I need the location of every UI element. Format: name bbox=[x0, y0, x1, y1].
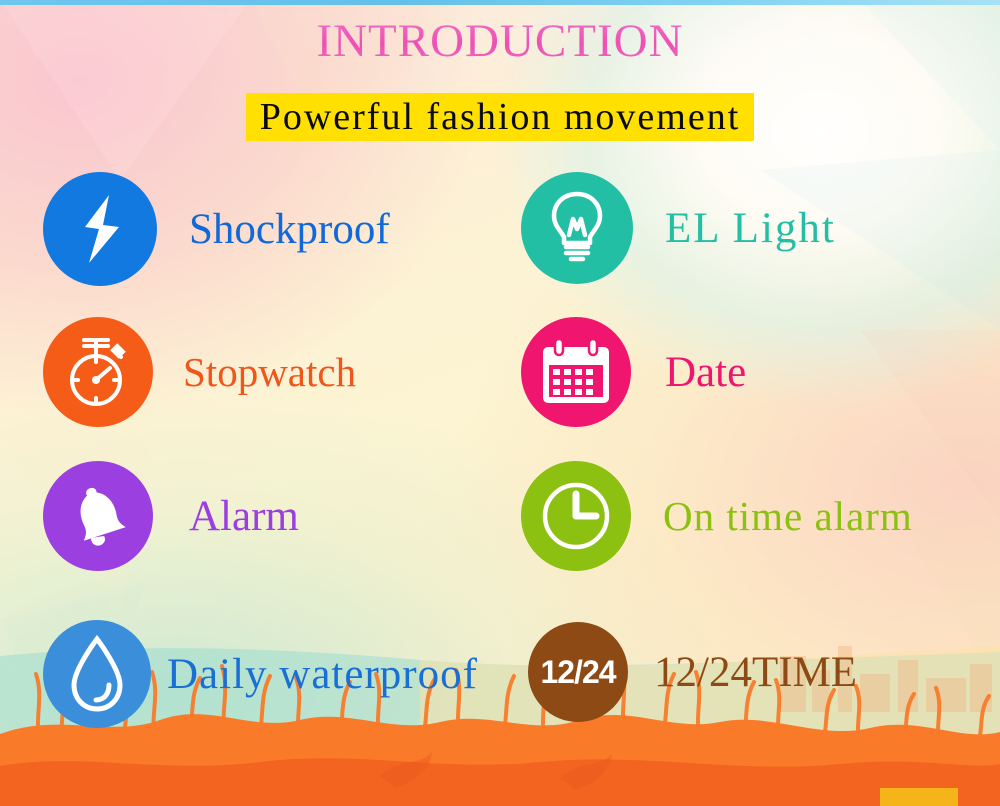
feature-label-stopwatch: Stopwatch bbox=[183, 352, 356, 393]
water-drop-icon-circle bbox=[43, 620, 151, 728]
feature-label-daily-waterproof: Daily waterproof bbox=[167, 653, 478, 696]
light-bulb-icon-circle bbox=[521, 172, 633, 284]
feature-item-stopwatch[interactable]: Stopwatch bbox=[43, 317, 356, 427]
feature-item-el-light[interactable]: EL Light bbox=[521, 172, 836, 284]
stopwatch-icon bbox=[62, 334, 134, 410]
bell-icon-circle bbox=[43, 461, 153, 571]
feature-label-on-time-alarm: On time alarm bbox=[663, 496, 913, 537]
feature-label-12-24-time: 12/24TIME bbox=[654, 651, 857, 694]
feature-label-shockproof: Shockproof bbox=[189, 208, 390, 251]
light-bulb-icon bbox=[547, 189, 607, 267]
feature-item-daily-waterproof[interactable]: Daily waterproof bbox=[43, 620, 478, 728]
feature-item-12-24-time[interactable]: 12/24 12/24TIME bbox=[528, 622, 857, 722]
clock-icon bbox=[536, 476, 616, 556]
12-24-badge-icon: 12/24 bbox=[528, 622, 628, 722]
feature-label-el-light: EL Light bbox=[665, 207, 836, 250]
feature-list: Shockproof EL Light bbox=[0, 0, 1000, 806]
feature-label-alarm: Alarm bbox=[189, 495, 299, 538]
12-24-badge-label: 12/24 bbox=[540, 654, 615, 691]
water-drop-icon bbox=[66, 635, 128, 713]
feature-label-date: Date bbox=[665, 351, 746, 394]
feature-item-date[interactable]: Date bbox=[521, 317, 746, 427]
lightning-bolt-icon bbox=[69, 193, 131, 265]
feature-item-alarm[interactable]: Alarm bbox=[43, 461, 299, 571]
introduction-poster: INTRODUCTION Powerful fashion movement S… bbox=[0, 0, 1000, 806]
feature-item-shockproof[interactable]: Shockproof bbox=[43, 172, 390, 286]
clock-icon-circle bbox=[521, 461, 631, 571]
bell-icon bbox=[63, 481, 133, 551]
feature-item-on-time-alarm[interactable]: On time alarm bbox=[521, 461, 913, 571]
calendar-icon bbox=[539, 337, 613, 407]
calendar-icon-circle bbox=[521, 317, 631, 427]
stopwatch-icon-circle bbox=[43, 317, 153, 427]
lightning-bolt-icon-circle bbox=[43, 172, 157, 286]
